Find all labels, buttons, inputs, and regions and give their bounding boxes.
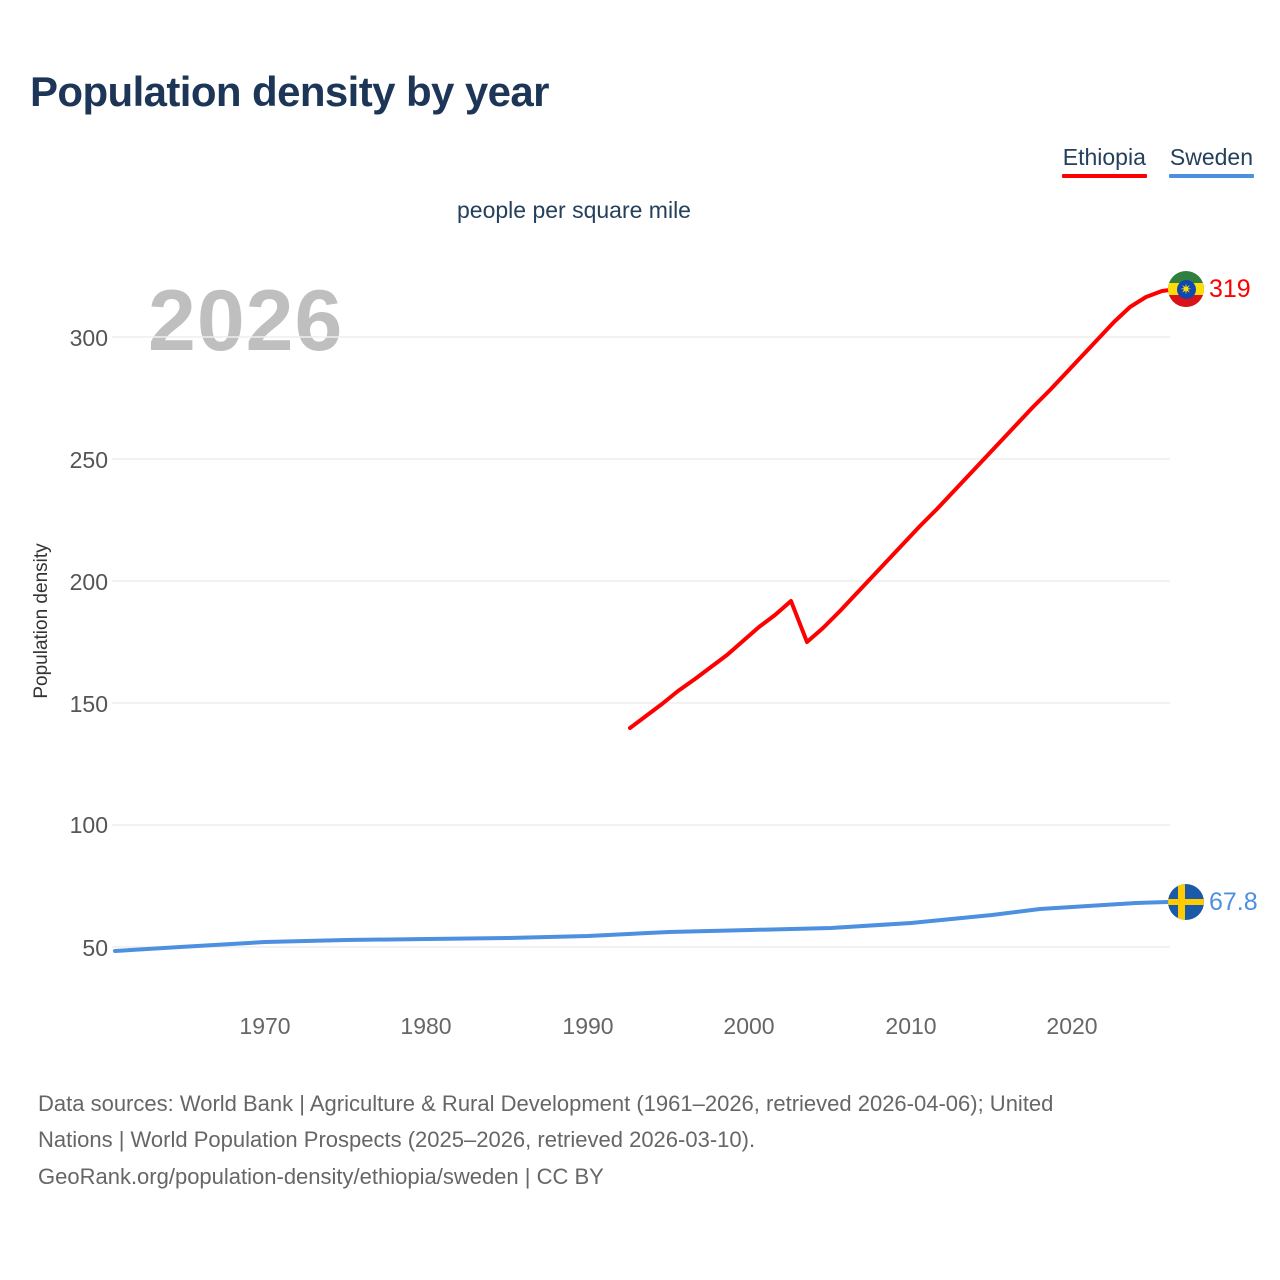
footer-line-1: Data sources: World Bank | Agriculture &… <box>38 1086 1258 1122</box>
footer-sources: Data sources: World Bank | Agriculture &… <box>38 1086 1258 1195</box>
flag-cross-horizontal <box>1168 899 1204 905</box>
chart-page: Population density by year Ethiopia Swed… <box>0 0 1280 1280</box>
sweden-flag-icon <box>1168 884 1204 920</box>
ethiopia-flag-icon: ✷ <box>1168 271 1204 307</box>
flag-star-icon: ✷ <box>1180 283 1193 296</box>
series-line-sweden <box>115 902 1168 951</box>
endpoint-value-ethiopia: 319 <box>1209 275 1251 304</box>
footer-line-2: Nations | World Population Prospects (20… <box>38 1122 1258 1158</box>
flag-cross-vertical <box>1178 884 1184 920</box>
endpoint-value-sweden: 67.8 <box>1209 888 1258 917</box>
footer-line-3: GeoRank.org/population-density/ethiopia/… <box>38 1159 1258 1195</box>
series-line-ethiopia <box>630 290 1170 728</box>
